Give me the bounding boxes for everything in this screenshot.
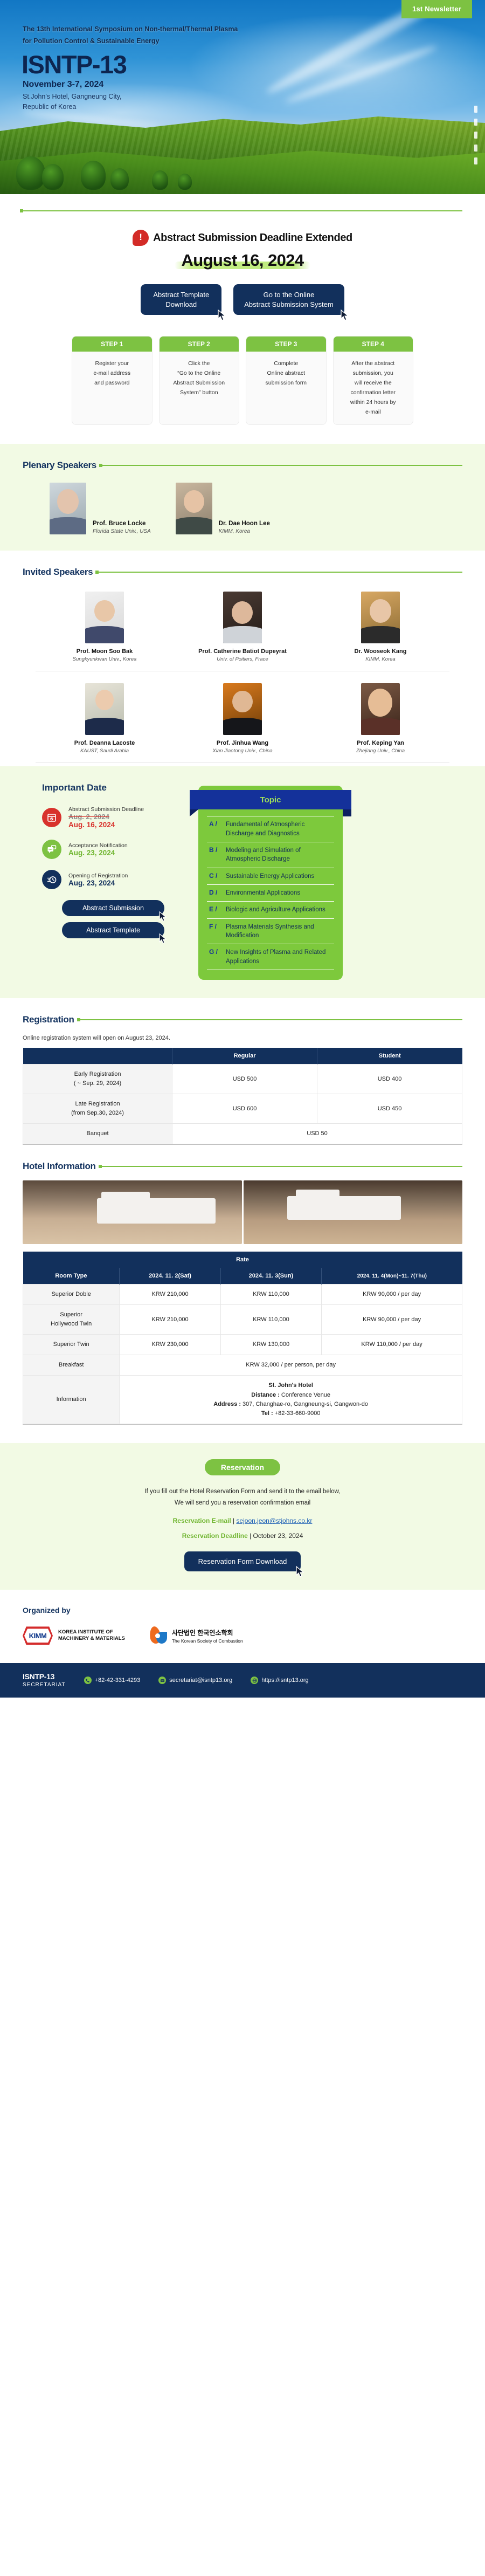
cell-regular: USD 600 xyxy=(172,1094,317,1124)
reservation-email-link[interactable]: sejoon.jeon@stjohns.co.kr xyxy=(236,1517,312,1524)
divider-rule xyxy=(102,465,462,466)
topic-key: E / xyxy=(209,905,221,914)
important-date-item: Abstract Submission Deadline Aug. 2, 202… xyxy=(42,806,184,829)
speaker-name: Prof. Moon Soo Bak xyxy=(38,648,171,655)
row-label: Superior Hollywood Twin xyxy=(23,1305,120,1335)
cell-student: USD 450 xyxy=(317,1094,462,1124)
step-header: STEP 2 xyxy=(160,336,239,352)
column-header-day-1: 2024. 11. 2(Sat) xyxy=(120,1268,220,1284)
step-card: STEP 3 Complete Online abstract submissi… xyxy=(246,336,326,424)
step-body: After the abstract submission, you will … xyxy=(334,352,413,424)
column-header-student: Student xyxy=(317,1048,462,1064)
speaker-name: Prof. Keping Yan xyxy=(314,740,447,746)
deadline-date: August 16, 2024 xyxy=(175,251,310,270)
important-date-buttons: Abstract Submission Abstract Template xyxy=(42,900,184,938)
flame-icon xyxy=(149,1626,167,1645)
row-label: Early Registration ( ~ Sep. 29, 2024) xyxy=(23,1064,172,1094)
hero-subtitle: The 13th International Symposium on Non-… xyxy=(23,24,238,47)
tree-decoration xyxy=(42,164,64,190)
footer-brand-name: ISNTP-13 xyxy=(23,1672,66,1682)
column-header-regular: Regular xyxy=(172,1048,317,1064)
cell-regular: USD 500 xyxy=(172,1064,317,1094)
speaker-name: Prof. Jinhua Wang xyxy=(176,740,309,746)
carousel-dot[interactable] xyxy=(474,119,477,126)
phone-icon xyxy=(84,1677,92,1684)
plenary-speaker-list: Prof. Bruce Locke Florida State Univ., U… xyxy=(0,471,485,534)
button-label: Abstract Submission xyxy=(82,904,144,912)
separator: | xyxy=(248,1532,253,1540)
hotel-tel: Tel : +82-33-660-9000 xyxy=(123,1409,459,1418)
hero-venue-line-1: St.John's Hotel, Gangneung City, xyxy=(23,92,122,102)
topic-key: A / xyxy=(209,820,221,838)
divider-rule xyxy=(80,1019,462,1020)
topic-text: Fundamental of Atmospheric Discharge and… xyxy=(226,820,332,838)
reservation-deadline-line: Reservation Deadline | October 23, 2024 xyxy=(0,1532,485,1540)
important-date-value: Aug. 23, 2024 xyxy=(68,849,128,857)
ksc-line-1: 사단법인 한국연소학회 xyxy=(172,1628,243,1637)
cta-line-2: Abstract Submission System xyxy=(244,300,333,308)
topic-text: Biologic and Agriculture Applications xyxy=(226,905,325,914)
row-label: Late Registration (from Sep.30, 2024) xyxy=(23,1094,172,1124)
cell-rate: KRW 210,000 xyxy=(120,1284,220,1305)
ksc-line-2: The Korean Society of Combustion xyxy=(172,1638,243,1644)
important-date-label: Abstract Submission Deadline xyxy=(68,806,144,813)
cursor-icon xyxy=(159,911,168,922)
topic-item: A / Fundamental of Atmospheric Discharge… xyxy=(207,816,334,842)
tree-decoration xyxy=(178,174,192,190)
topic-text: Environmental Applications xyxy=(226,889,300,897)
topic-key: F / xyxy=(209,923,221,940)
speaker-card: Dr. Dae Hoon Lee KIMM, Korea xyxy=(176,483,270,534)
hotel-information-section: Hotel Information Rate Room Type xyxy=(0,1145,485,1424)
reservation-text-line-2: We will send you a reservation confirmat… xyxy=(0,1497,485,1509)
topic-item: C / Sustainable Energy Applications xyxy=(207,868,334,884)
registration-section: Registration Online registration system … xyxy=(0,998,485,1145)
hotel-address: Address : 307, Changhae-ro, Gangneung-si… xyxy=(123,1400,459,1409)
topic-text: New Insights of Plasma and Related Appli… xyxy=(226,948,332,966)
cell-breakfast-price: KRW 32,000 / per person, per day xyxy=(120,1355,462,1376)
page-footer: ISNTP-13 SECRETARIAT +82-42-331-4293 sec… xyxy=(0,1663,485,1698)
speaker-name: Dr. Dae Hoon Lee xyxy=(219,520,270,527)
table-row: Superior Doble KRW 210,000 KRW 110,000 K… xyxy=(23,1284,462,1305)
reservation-email-label: Reservation E-mail xyxy=(173,1517,231,1524)
invited-speakers-section: Invited Speakers xyxy=(0,551,485,578)
footer-email[interactable]: secretariat@isntp13.org xyxy=(158,1677,232,1684)
speaker-affiliation: KAUST, Saudi Arabia xyxy=(38,748,171,754)
carousel-dot[interactable] xyxy=(474,106,477,113)
table-row: Early Registration ( ~ Sep. 29, 2024) US… xyxy=(23,1064,462,1094)
footer-phone-value: +82-42-331-4293 xyxy=(95,1677,141,1684)
divider xyxy=(36,763,449,763)
kimm-logo-label: KOREA INSTITUTE OF MACHINERY & MATERIALS xyxy=(58,1629,125,1643)
hero-venue-line-2: Republic of Korea xyxy=(23,102,122,112)
reservation-deadline-value: October 23, 2024 xyxy=(253,1532,303,1540)
speaker-photo xyxy=(176,483,212,534)
organizer-logos: KIMM KOREA INSTITUTE OF MACHINERY & MATE… xyxy=(23,1626,462,1645)
tree-decoration xyxy=(16,156,45,190)
table-row: Banquet USD 50 xyxy=(23,1124,462,1144)
step-body: Complete Online abstract submission form xyxy=(246,352,326,401)
hotel-distance-value: Conference Venue xyxy=(281,1392,330,1398)
cell-banquet-price: USD 50 xyxy=(172,1124,462,1144)
speaker-affiliation: Florida State Univ., USA xyxy=(93,528,151,534)
step-card: STEP 1 Register your e-mail address and … xyxy=(72,336,152,424)
topic-key: B / xyxy=(209,846,221,864)
kimm-logo: KIMM KOREA INSTITUTE OF MACHINERY & MATE… xyxy=(23,1626,125,1645)
cta-line-1: Abstract Template xyxy=(153,291,209,299)
online-abstract-submission-button[interactable]: Go to the Online Abstract Submission Sys… xyxy=(233,284,344,315)
hotel-tel-key: Tel : xyxy=(261,1410,275,1417)
kimm-line-1: KOREA INSTITUTE OF xyxy=(58,1629,125,1636)
tree-decoration xyxy=(152,170,168,190)
hero-banner: 1st Newsletter The 13th International Sy… xyxy=(0,0,485,194)
ksc-logo: 사단법인 한국연소학회 The Korean Society of Combus… xyxy=(149,1626,243,1645)
divider-rule xyxy=(23,210,462,211)
button-label: Abstract Template xyxy=(86,926,140,934)
hotel-room-photo xyxy=(23,1180,242,1244)
topic-item: F / Plasma Materials Synthesis and Modif… xyxy=(207,918,334,944)
topic-text: Modeling and Simulation of Atmospheric D… xyxy=(226,846,332,864)
deadline-cta-row: Abstract Template Download Go to the Onl… xyxy=(23,284,462,315)
cell-rate: KRW 230,000 xyxy=(120,1335,220,1355)
kimm-logo-text: KIMM xyxy=(29,1632,47,1640)
step-body: Click the “Go to the Online Abstract Sub… xyxy=(160,352,239,405)
speaker-name: Prof. Catherine Batiot Dupeyrat xyxy=(176,648,309,655)
cell-rate: KRW 210,000 xyxy=(120,1305,220,1335)
reservation-form-download-button[interactable]: Reservation Form Download xyxy=(184,1551,301,1571)
button-label: Reservation Form Download xyxy=(198,1557,287,1565)
step-body: Register your e-mail address and passwor… xyxy=(72,352,152,401)
step-header: STEP 3 xyxy=(246,336,326,352)
alert-icon xyxy=(133,230,149,246)
topic-item: G / New Insights of Plasma and Related A… xyxy=(207,944,334,970)
cell-rate: KRW 90,000 / per day xyxy=(322,1305,462,1335)
footer-email-value: secretariat@isntp13.org xyxy=(169,1677,232,1684)
hero-date: November 3-7, 2024 xyxy=(23,80,103,90)
speaker-card: Prof. Jinhua Wang Xian Jiaotong Univ., C… xyxy=(174,671,311,763)
table-header-row: Rate xyxy=(23,1252,462,1268)
column-header-day-3: 2024. 11. 4(Mon)~11. 7(Thu) xyxy=(322,1268,462,1284)
important-date-panel: Important Date Abstract Submission Deadl… xyxy=(23,782,184,980)
table-row: Late Registration (from Sep.30, 2024) US… xyxy=(23,1094,462,1124)
important-date-old-value: Aug. 2, 2024 xyxy=(68,813,144,821)
speaker-affiliation: KIMM, Korea xyxy=(219,528,270,534)
abstract-template-download-button[interactable]: Abstract Template Download xyxy=(141,284,221,315)
newsletter-badge: 1st Newsletter xyxy=(401,0,472,18)
organized-by-section: Organized by KIMM KOREA INSTITUTE OF MAC… xyxy=(0,1590,485,1663)
column-header-day-2: 2024. 11. 3(Sun) xyxy=(220,1268,321,1284)
cell-rate: KRW 110,000 / per day xyxy=(322,1335,462,1355)
globe-icon xyxy=(251,1677,258,1684)
topic-item: B / Modeling and Simulation of Atmospher… xyxy=(207,842,334,868)
cell-rate: KRW 90,000 / per day xyxy=(322,1284,462,1305)
email-icon xyxy=(158,1677,166,1684)
topic-panel: Topic A / Fundamental of Atmospheric Dis… xyxy=(198,786,343,980)
calendar-icon xyxy=(42,808,61,827)
rate-header: Rate xyxy=(23,1252,462,1268)
table-header-row: Room Type 2024. 11. 2(Sat) 2024. 11. 3(S… xyxy=(23,1268,462,1284)
row-label: Superior Doble xyxy=(23,1284,120,1305)
important-date-section: Important Date Abstract Submission Deadl… xyxy=(0,766,485,998)
step-header: STEP 4 xyxy=(334,336,413,352)
hotel-distance: Distance : Conference Venue xyxy=(123,1391,459,1400)
important-date-item: Acceptance Notification Aug. 23, 2024 xyxy=(42,840,184,859)
topic-text: Sustainable Energy Applications xyxy=(226,872,314,881)
speaker-card: Prof. Keping Yan Zhejiang Univ., China xyxy=(311,671,449,763)
hotel-tel-value: +82-33-660-9000 xyxy=(275,1410,321,1417)
kimm-mark-icon: KIMM xyxy=(23,1626,53,1645)
speaker-photo xyxy=(85,683,124,735)
topic-title: Topic xyxy=(190,790,351,809)
abstract-template-button[interactable]: Abstract Template xyxy=(62,922,164,938)
speaker-photo xyxy=(50,483,86,534)
reservation-text-line-1: If you fill out the Hotel Reservation Fo… xyxy=(0,1486,485,1498)
hotel-photo-gallery xyxy=(23,1180,462,1244)
cell-student: USD 400 xyxy=(317,1064,462,1094)
carousel-dot[interactable] xyxy=(474,157,477,164)
speaker-photo xyxy=(85,592,124,643)
cta-line-2: Download xyxy=(165,300,197,308)
deadline-section: Abstract Submission Deadline Extended Au… xyxy=(0,194,485,424)
speaker-affiliation: KIMM, Korea xyxy=(314,656,447,662)
hotel-rate-table: Rate Room Type 2024. 11. 2(Sat) 2024. 11… xyxy=(23,1252,462,1424)
important-date-item: Opening of Registration Aug. 23, 2024 xyxy=(42,870,184,889)
important-date-label: Opening of Registration xyxy=(68,873,128,879)
reservation-pill: Reservation xyxy=(205,1459,280,1475)
registration-table: Regular Student Early Registration ( ~ S… xyxy=(23,1048,462,1144)
hotel-room-photo xyxy=(244,1180,463,1244)
plenary-speakers-section: Plenary Speakers Prof. Bruce Locke Flori… xyxy=(0,444,485,551)
kimm-line-2: MACHINERY & MATERIALS xyxy=(58,1636,125,1643)
footer-brand: ISNTP-13 SECRETARIAT xyxy=(23,1672,66,1688)
hotel-section-title: Hotel Information xyxy=(23,1161,96,1172)
deadline-block: Abstract Submission Deadline Extended Au… xyxy=(23,211,462,318)
row-label: Superior Twin xyxy=(23,1335,120,1355)
important-date-value: Aug. 23, 2024 xyxy=(68,879,128,887)
hotel-address-key: Address : xyxy=(213,1401,242,1407)
step-card: STEP 4 After the abstract submission, yo… xyxy=(334,336,413,424)
hotel-address-value: 307, Changhae-ro, Gangneung-si, Gangwon-… xyxy=(242,1401,368,1407)
clock-icon xyxy=(42,870,61,889)
divider-rule xyxy=(101,1166,462,1167)
registration-note: Online registration system will open on … xyxy=(23,1025,462,1048)
topic-key: G / xyxy=(209,948,221,966)
reservation-email-line: Reservation E-mail | sejoon.jeon@stjohns… xyxy=(0,1517,485,1524)
topic-list: A / Fundamental of Atmospheric Discharge… xyxy=(207,816,334,970)
reservation-section: Reservation If you fill out the Hotel Re… xyxy=(0,1443,485,1590)
speaker-card: Prof. Catherine Batiot Dupeyrat Univ. of… xyxy=(174,580,311,671)
important-date-value: Aug. 16, 2024 xyxy=(68,821,144,829)
important-date-label: Acceptance Notification xyxy=(68,842,128,849)
deadline-title: Abstract Submission Deadline Extended xyxy=(153,232,352,244)
cell-rate: KRW 130,000 xyxy=(220,1335,321,1355)
step-card: STEP 2 Click the “Go to the Online Abstr… xyxy=(160,336,239,424)
reservation-deadline-label: Reservation Deadline xyxy=(182,1532,248,1540)
invited-section-title: Invited Speakers xyxy=(23,567,93,578)
cell-rate: KRW 110,000 xyxy=(220,1284,321,1305)
cursor-icon xyxy=(159,933,168,944)
reservation-description: If you fill out the Hotel Reservation Fo… xyxy=(0,1486,485,1510)
carousel-dot[interactable] xyxy=(474,145,477,152)
hotel-name: St. John's Hotel xyxy=(123,1381,459,1390)
deadline-section-rule xyxy=(23,194,462,211)
ksc-logo-label: 사단법인 한국연소학회 The Korean Society of Combus… xyxy=(172,1628,243,1644)
hero-subtitle-line-2: for Pollution Control & Sustainable Ener… xyxy=(23,36,238,47)
tree-decoration xyxy=(110,168,129,190)
abstract-submission-button[interactable]: Abstract Submission xyxy=(62,900,164,916)
speaker-name: Dr. Wooseok Kang xyxy=(314,648,447,655)
speaker-photo xyxy=(361,683,400,735)
footer-phone[interactable]: +82-42-331-4293 xyxy=(84,1677,141,1684)
speaker-card: Prof. Moon Soo Bak Sungkyunkwan Univ., K… xyxy=(36,580,174,671)
invited-row: Prof. Moon Soo Bak Sungkyunkwan Univ., K… xyxy=(36,580,449,671)
speaker-affiliation: Sungkyunkwan Univ., Korea xyxy=(38,656,171,662)
speaker-affiliation: Univ. of Poitiers, Frace xyxy=(176,656,309,662)
speaker-affiliation: Xian Jiaotong Univ., China xyxy=(176,748,309,754)
submission-steps: STEP 1 Register your e-mail address and … xyxy=(23,318,462,424)
topic-text: Plasma Materials Synthesis and Modificat… xyxy=(226,923,332,940)
cursor-icon xyxy=(341,310,350,321)
registration-section-title: Registration xyxy=(23,1014,74,1025)
cell-hotel-information: St. John's Hotel Distance : Conference V… xyxy=(120,1376,462,1424)
divider-rule xyxy=(98,572,462,573)
footer-brand-sub: SECRETARIAT xyxy=(23,1682,66,1689)
organized-by-title: Organized by xyxy=(23,1606,462,1615)
separator: | xyxy=(231,1517,237,1524)
tree-decoration xyxy=(81,161,106,190)
cta-line-1: Go to the Online xyxy=(264,291,315,299)
carousel-dot[interactable] xyxy=(474,132,477,139)
page-title: ISNTP-13 xyxy=(22,50,126,79)
table-row: Information St. John's Hotel Distance : … xyxy=(23,1376,462,1424)
cursor-icon xyxy=(296,1566,305,1578)
hero-subtitle-line-1: The 13th International Symposium on Non-… xyxy=(23,24,238,36)
speaker-name: Prof. Bruce Locke xyxy=(93,520,151,527)
speaker-name: Prof. Deanna Lacoste xyxy=(38,740,171,746)
column-header-room-type: Room Type xyxy=(23,1268,120,1284)
cell-rate: KRW 110,000 xyxy=(220,1305,321,1335)
column-header-blank xyxy=(23,1048,172,1064)
footer-website-value: https://isntp13.org xyxy=(261,1677,308,1684)
deadline-heading-row: Abstract Submission Deadline Extended xyxy=(23,230,462,246)
speaker-photo xyxy=(223,592,262,643)
speaker-affiliation: Zhejiang Univ., China xyxy=(314,748,447,754)
hotel-distance-key: Distance : xyxy=(251,1392,281,1398)
carousel-dots[interactable] xyxy=(474,106,477,170)
hero-venue: St.John's Hotel, Gangneung City, Republi… xyxy=(23,92,122,113)
invited-speaker-grid: Prof. Moon Soo Bak Sungkyunkwan Univ., K… xyxy=(0,578,485,763)
topic-item: D / Environmental Applications xyxy=(207,884,334,901)
topic-key: C / xyxy=(209,872,221,881)
cursor-icon xyxy=(218,310,227,321)
table-header-row: Regular Student xyxy=(23,1048,462,1064)
chat-icon xyxy=(42,840,61,859)
plenary-section-title: Plenary Speakers xyxy=(23,460,96,471)
table-row: Breakfast KRW 32,000 / per person, per d… xyxy=(23,1355,462,1376)
topic-item: E / Biologic and Agriculture Application… xyxy=(207,901,334,918)
row-label: Banquet xyxy=(23,1124,172,1144)
speaker-card: Dr. Wooseok Kang KIMM, Korea xyxy=(311,580,449,671)
speaker-photo xyxy=(361,592,400,643)
newsletter-page: 1st Newsletter The 13th International Sy… xyxy=(0,0,485,1698)
important-date-title: Important Date xyxy=(42,782,184,793)
topic-key: D / xyxy=(209,889,221,897)
step-header: STEP 1 xyxy=(72,336,152,352)
speaker-card: Prof. Bruce Locke Florida State Univ., U… xyxy=(50,483,151,534)
footer-website[interactable]: https://isntp13.org xyxy=(251,1677,308,1684)
table-row: Superior Twin KRW 230,000 KRW 130,000 KR… xyxy=(23,1335,462,1355)
row-label: Breakfast xyxy=(23,1355,120,1376)
speaker-card: Prof. Deanna Lacoste KAUST, Saudi Arabia xyxy=(36,671,174,763)
row-label: Information xyxy=(23,1376,120,1424)
invited-row: Prof. Deanna Lacoste KAUST, Saudi Arabia… xyxy=(36,671,449,763)
speaker-photo xyxy=(223,683,262,735)
table-row: Superior Hollywood Twin KRW 210,000 KRW … xyxy=(23,1305,462,1335)
